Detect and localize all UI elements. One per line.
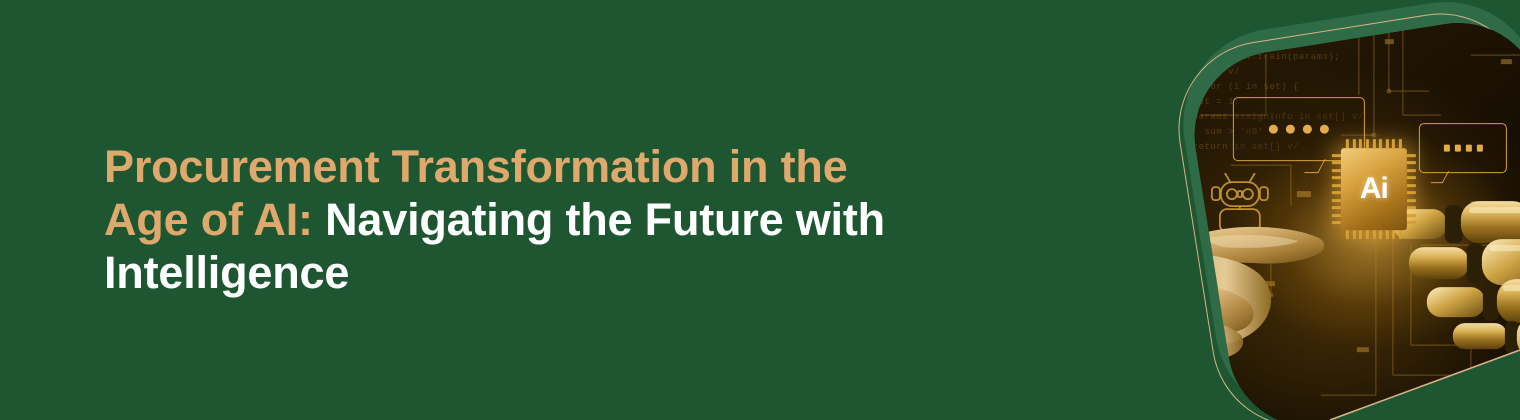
bubble-dots — [1234, 125, 1364, 134]
title-plain-line3: Intelligence — [104, 247, 349, 298]
artwork-frame: if (data) { void model.train(params); se… — [1183, 11, 1520, 420]
hero-artwork: if (data) { void model.train(params); se… — [1180, 0, 1520, 420]
title-accent-line2: Age of AI: — [104, 194, 313, 245]
chat-bubble-small-icon — [1419, 123, 1507, 173]
chip-label: Ai — [1360, 174, 1388, 204]
title-accent-line1: Procurement Transformation in the — [104, 141, 848, 192]
hero-banner: Procurement Transformation in theAge of … — [0, 0, 1520, 420]
headline-block: Procurement Transformation in theAge of … — [104, 140, 1034, 299]
artwork-photo: if (data) { void model.train(params); se… — [1183, 11, 1520, 420]
chip-pins-bottom — [1346, 230, 1402, 239]
bubble-dots — [1420, 145, 1506, 152]
chip-pins-right — [1407, 154, 1416, 224]
title-plain-line2: Navigating the Future with — [313, 194, 885, 245]
chip-pins-top — [1346, 139, 1402, 148]
chip-pins-left — [1332, 154, 1341, 224]
chip-body: Ai — [1341, 148, 1407, 230]
ai-chip-icon: Ai — [1341, 148, 1407, 230]
page-title: Procurement Transformation in theAge of … — [104, 140, 1034, 299]
